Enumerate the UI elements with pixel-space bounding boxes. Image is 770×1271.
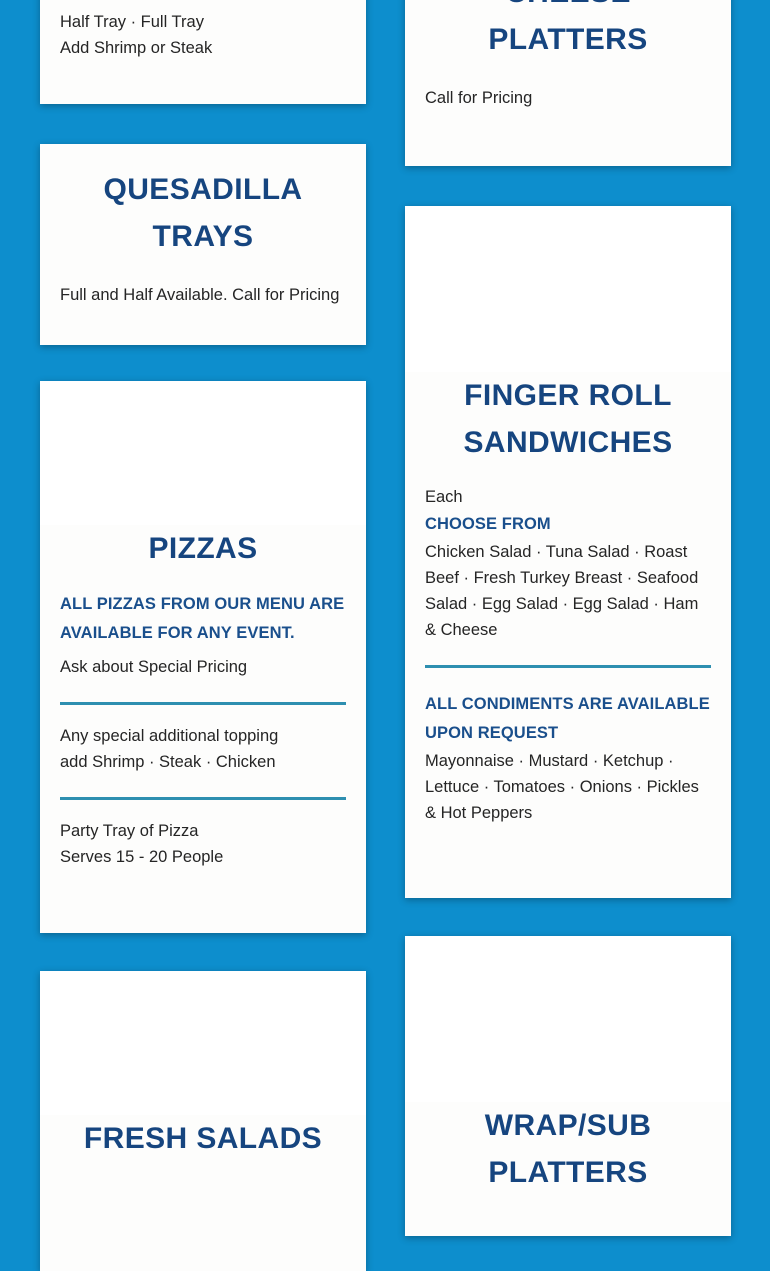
condiments-heading: ALL CONDIMENTS ARE AVAILABLE UPON REQUES…	[425, 690, 711, 748]
choose-from-options: Chicken Salad · Tuna Salad · Roast Beef …	[425, 539, 711, 643]
pizzas-pricing-note: Ask about Special Pricing	[60, 654, 346, 680]
condiments-options: Mayonnaise · Mustard · Ketchup · Lettuce…	[425, 748, 711, 826]
pizzas-topping-line-1: Any special additional topping	[60, 723, 346, 749]
card-wrap-sub-platters[interactable]: WRAP/SUB PLATTERS	[405, 936, 731, 1236]
pizzas-topping-line-2: add Shrimp · Steak · Chicken	[60, 749, 346, 775]
quesadilla-body: Full and Half Available. Call for Pricin…	[60, 282, 346, 308]
tray-options-line-2: Add Shrimp or Steak	[60, 35, 346, 61]
finger-roll-each-label: Each	[425, 484, 711, 510]
pizzas-image-placeholder	[40, 381, 366, 525]
tray-options-line-1: Half Tray · Full Tray	[60, 9, 346, 35]
wrap-sub-title-line-2: PLATTERS	[425, 1149, 711, 1196]
card-tray-options[interactable]: Half Tray · Full Tray Add Shrimp or Stea…	[40, 0, 366, 104]
pizzas-title: PIZZAS	[60, 525, 346, 572]
finger-roll-title: FINGER ROLL SANDWICHES	[425, 372, 711, 466]
card-pizzas[interactable]: PIZZAS ALL PIZZAS FROM OUR MENU ARE AVAI…	[40, 381, 366, 933]
quesadilla-title: QUESADILLA TRAYS	[60, 166, 346, 260]
pizzas-party-line-2: Serves 15 - 20 People	[60, 844, 346, 870]
wrap-sub-title-line-1: WRAP/SUB	[425, 1102, 711, 1149]
finger-roll-image-placeholder	[405, 206, 731, 372]
card-finger-roll-sandwiches[interactable]: FINGER ROLL SANDWICHES Each CHOOSE FROM …	[405, 206, 731, 898]
catering-menu-page: Half Tray · Full Tray Add Shrimp or Stea…	[0, 0, 770, 1200]
platters-body: Call for Pricing	[425, 85, 711, 111]
fresh-salads-title: FRESH SALADS	[60, 1115, 346, 1162]
platters-title-line-2: CHEESE	[425, 0, 711, 16]
choose-from-heading: CHOOSE FROM	[425, 510, 711, 539]
pizzas-party-line-1: Party Tray of Pizza	[60, 818, 346, 844]
card-fruit-cheese-platters[interactable]: FRUIT OR CHEESE PLATTERS Call for Pricin…	[405, 0, 731, 166]
fresh-salads-image-placeholder	[40, 971, 366, 1115]
card-fresh-salads[interactable]: FRESH SALADS	[40, 971, 366, 1271]
platters-title-line-3: PLATTERS	[425, 16, 711, 63]
pizzas-subhead: ALL PIZZAS FROM OUR MENU ARE AVAILABLE F…	[60, 590, 346, 648]
wrap-sub-image-placeholder	[405, 936, 731, 1102]
card-quesadilla-trays[interactable]: QUESADILLA TRAYS Full and Half Available…	[40, 144, 366, 345]
